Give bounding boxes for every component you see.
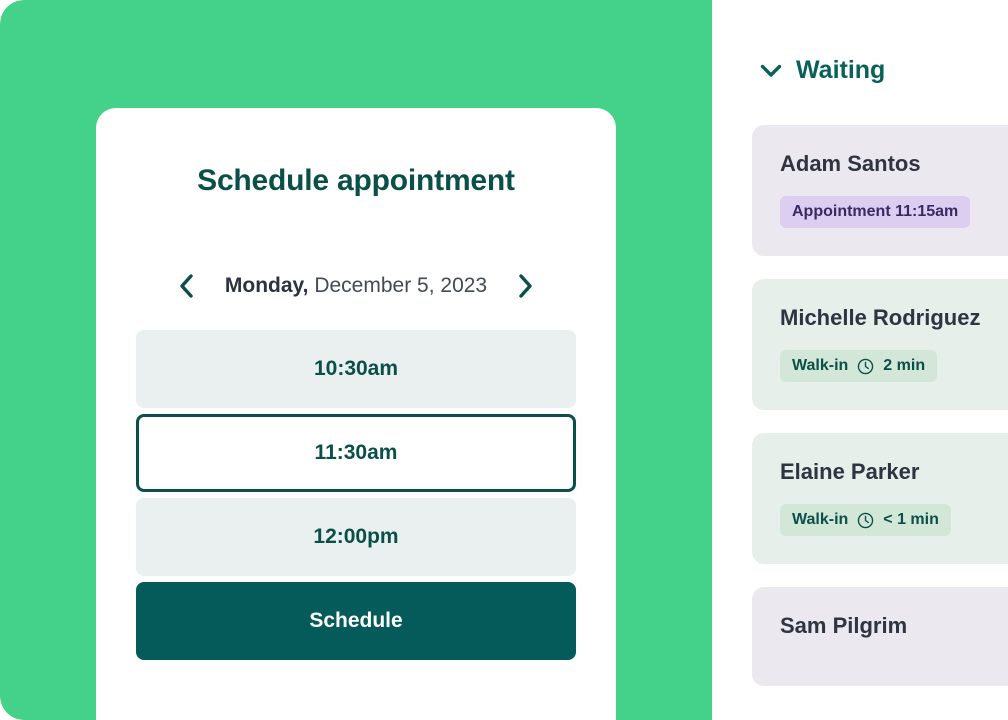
- patient-card-list: Adam Santos Appointment 11:15am Michelle…: [752, 125, 1008, 709]
- time-slot-label: 11:30am: [315, 441, 398, 465]
- patient-card-adam-santos[interactable]: Adam Santos Appointment 11:15am: [752, 125, 1008, 256]
- patient-card-sam-pilgrim[interactable]: Sam Pilgrim: [752, 587, 1008, 686]
- date-navigation: Monday, December 5, 2023: [96, 266, 616, 306]
- current-date-label: Monday, December 5, 2023: [225, 274, 487, 298]
- patient-name: Elaine Parker: [780, 459, 1008, 485]
- patient-card-michelle-rodriguez[interactable]: Michelle Rodriguez Walk-in 2 min: [752, 279, 1008, 410]
- badge-time-label: 2 min: [883, 357, 925, 375]
- time-slot-1[interactable]: 11:30am: [136, 414, 576, 492]
- badge-type-label: Walk-in: [792, 511, 848, 529]
- schedule-button[interactable]: Schedule: [136, 582, 576, 660]
- time-slot-0[interactable]: 10:30am: [136, 330, 576, 408]
- app-root: Schedule appointment Monday, December 5,…: [0, 0, 1008, 720]
- schedule-appointment-modal: Schedule appointment Monday, December 5,…: [96, 108, 616, 720]
- waiting-section-toggle[interactable]: Waiting: [760, 56, 885, 85]
- clock-icon: [857, 512, 874, 529]
- status-badge: Walk-in < 1 min: [780, 504, 951, 536]
- patient-name: Adam Santos: [780, 151, 1008, 177]
- time-slot-label: 10:30am: [314, 357, 398, 381]
- chevron-right-icon[interactable]: [513, 271, 539, 301]
- patient-name: Michelle Rodriguez: [780, 305, 1008, 331]
- status-badge: Walk-in 2 min: [780, 350, 937, 382]
- time-slot-2[interactable]: 12:00pm: [136, 498, 576, 576]
- badge-type-label: Walk-in: [792, 357, 848, 375]
- waiting-list-panel: Waiting Adam Santos Appointment 11:15am …: [712, 0, 1008, 720]
- time-slot-label: 12:00pm: [313, 525, 398, 549]
- chevron-left-icon[interactable]: [173, 271, 199, 301]
- time-slot-list: 10:30am 11:30am 12:00pm Schedule: [136, 330, 576, 660]
- date-weekday: Monday,: [225, 274, 309, 297]
- status-badge: Appointment 11:15am: [780, 196, 970, 228]
- waiting-section-title: Waiting: [796, 56, 885, 85]
- date-rest: December 5, 2023: [309, 274, 488, 297]
- badge-label: Appointment 11:15am: [792, 203, 958, 221]
- badge-time-label: < 1 min: [883, 511, 939, 529]
- clock-icon: [857, 358, 874, 375]
- page-title: Schedule appointment: [96, 164, 616, 198]
- chevron-down-icon: [760, 64, 782, 78]
- patient-name: Sam Pilgrim: [780, 613, 1008, 639]
- patient-card-elaine-parker[interactable]: Elaine Parker Walk-in < 1 min: [752, 433, 1008, 564]
